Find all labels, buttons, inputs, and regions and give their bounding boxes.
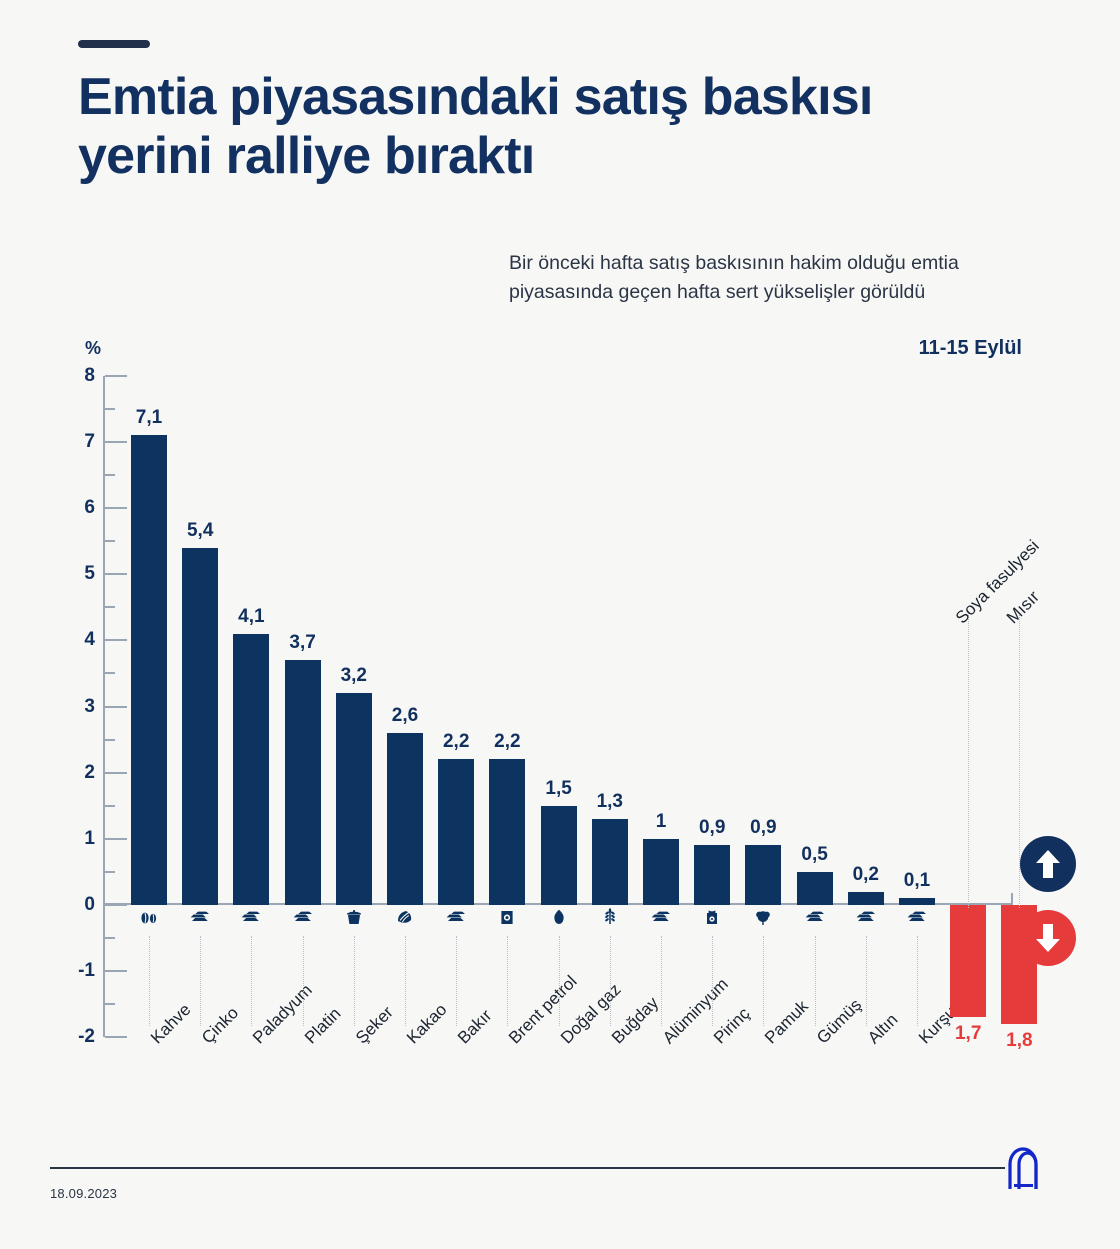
y-tick-label: 2 (55, 762, 95, 784)
coffee-beans-icon (131, 908, 167, 928)
wheat-icon (592, 908, 628, 928)
infographic-page: Emtia piyasasındaki satış baskısı yerini… (0, 0, 1120, 1249)
bar-value-label: 7,1 (119, 407, 179, 429)
metal-ingots-icon (906, 908, 928, 928)
bar (848, 892, 884, 905)
y-tick-label: 0 (55, 894, 95, 916)
wheat-icon (599, 908, 621, 928)
metal-ingots-icon (240, 908, 262, 928)
bar (489, 759, 525, 904)
bar (592, 819, 628, 905)
y-tick-8 (105, 375, 127, 377)
bar (541, 806, 577, 905)
metal-ingots-icon (643, 908, 679, 928)
bar-value-label: 0,5 (785, 844, 845, 866)
oil-barrel-icon (496, 908, 518, 928)
footer-date: 18.09.2023 (50, 1186, 117, 1201)
metal-ingots-icon (292, 908, 314, 928)
y-tick-3 (105, 706, 127, 708)
category-label: Mısır (1003, 587, 1044, 628)
y-minor-tick (105, 805, 115, 807)
bar (285, 660, 321, 905)
y-tick-2 (105, 772, 127, 774)
y-tick-4 (105, 639, 127, 641)
arrow-up-icon (1035, 849, 1061, 879)
sugar-bucket-icon (343, 908, 365, 928)
y-tick-label: -2 (55, 1026, 95, 1048)
bar-chart: 876543210-1-27,1Kahve5,4Çinko4,1Paladyum… (0, 0, 1120, 1249)
footer-divider (50, 1167, 1005, 1169)
metal-ingots-icon (445, 908, 467, 928)
category-label: Kakao (403, 1000, 451, 1048)
y-minor-tick (105, 474, 115, 476)
metal-ingots-icon (848, 908, 884, 928)
category-label: Pamuk (761, 997, 813, 1049)
bar (336, 693, 372, 905)
bar (131, 435, 167, 904)
arrow-down-badge (1020, 910, 1076, 966)
bar (797, 872, 833, 905)
category-label: Altın (864, 1010, 902, 1048)
y-minor-tick (105, 739, 115, 741)
category-label: Çinko (198, 1003, 243, 1048)
category-label: Kahve (147, 1000, 195, 1048)
y-tick-label: 4 (55, 629, 95, 651)
bar-value-label: 0,1 (887, 870, 947, 892)
metal-ingots-icon (899, 908, 935, 928)
y-minor-tick (105, 408, 115, 410)
y-minor-tick (105, 871, 115, 873)
y-tick--1 (105, 970, 127, 972)
bar-value-label: 1,3 (580, 791, 640, 813)
y-tick-label: 6 (55, 497, 95, 519)
bar (694, 845, 730, 904)
metal-ingots-icon (438, 908, 474, 928)
y-tick-label: 8 (55, 365, 95, 387)
bar (182, 548, 218, 905)
soybean-icon (957, 908, 979, 928)
metal-ingots-icon (804, 908, 826, 928)
bar (387, 733, 423, 905)
y-minor-tick (105, 1003, 115, 1005)
y-minor-tick (105, 606, 115, 608)
oil-barrel-icon (489, 908, 525, 928)
arrow-up-badge (1020, 836, 1076, 892)
bar-value-label: 2,2 (477, 731, 537, 753)
bar (438, 759, 474, 904)
bar-value-label: 2,6 (375, 705, 435, 727)
rice-bag-icon (701, 908, 723, 928)
bar-value-label: 0,9 (733, 817, 793, 839)
y-tick-6 (105, 507, 127, 509)
coffee-beans-icon (138, 908, 160, 928)
metal-ingots-icon (650, 908, 672, 928)
y-minor-tick (105, 672, 115, 674)
y-tick-0 (105, 904, 127, 906)
y-tick-1 (105, 838, 127, 840)
cotton-boll-icon (752, 908, 774, 928)
y-minor-tick (105, 937, 115, 939)
cocoa-bean-icon (387, 908, 423, 928)
soybean-icon (950, 908, 986, 928)
metal-ingots-icon (285, 908, 321, 928)
bar-value-label: 3,2 (324, 665, 384, 687)
y-tick-7 (105, 441, 127, 443)
bar (899, 898, 935, 905)
category-label: Platin (301, 1004, 345, 1048)
bar (233, 634, 269, 905)
metal-ingots-icon (189, 908, 211, 928)
metal-ingots-icon (182, 908, 218, 928)
y-tick-label: 1 (55, 828, 95, 850)
bar-value-label: 3,7 (273, 632, 333, 654)
category-label: Bakır (454, 1006, 496, 1048)
sugar-bucket-icon (336, 908, 372, 928)
y-tick-5 (105, 573, 127, 575)
metal-ingots-icon (797, 908, 833, 928)
cotton-boll-icon (745, 908, 781, 928)
bar (643, 839, 679, 905)
y-tick-label: 7 (55, 431, 95, 453)
gas-flame-icon (541, 908, 577, 928)
category-label: Şeker (352, 1003, 398, 1049)
bar-value-label: 4,1 (221, 606, 281, 628)
gas-flame-icon (548, 908, 570, 928)
metal-ingots-icon (233, 908, 269, 928)
y-tick-label: -1 (55, 960, 95, 982)
arrow-down-icon (1035, 923, 1061, 953)
cocoa-bean-icon (394, 908, 416, 928)
category-label: Pirinç (710, 1004, 754, 1048)
aa-logo (1000, 1146, 1058, 1190)
category-label: Gümüş (813, 995, 866, 1048)
y-tick-label: 5 (55, 563, 95, 585)
y-minor-tick (105, 540, 115, 542)
rice-bag-icon (694, 908, 730, 928)
bar-value-label: 1,8 (989, 1030, 1049, 1052)
y-tick--2 (105, 1036, 127, 1038)
metal-ingots-icon (855, 908, 877, 928)
y-tick-label: 3 (55, 696, 95, 718)
bar-value-label: 5,4 (170, 520, 230, 542)
bar (745, 845, 781, 904)
